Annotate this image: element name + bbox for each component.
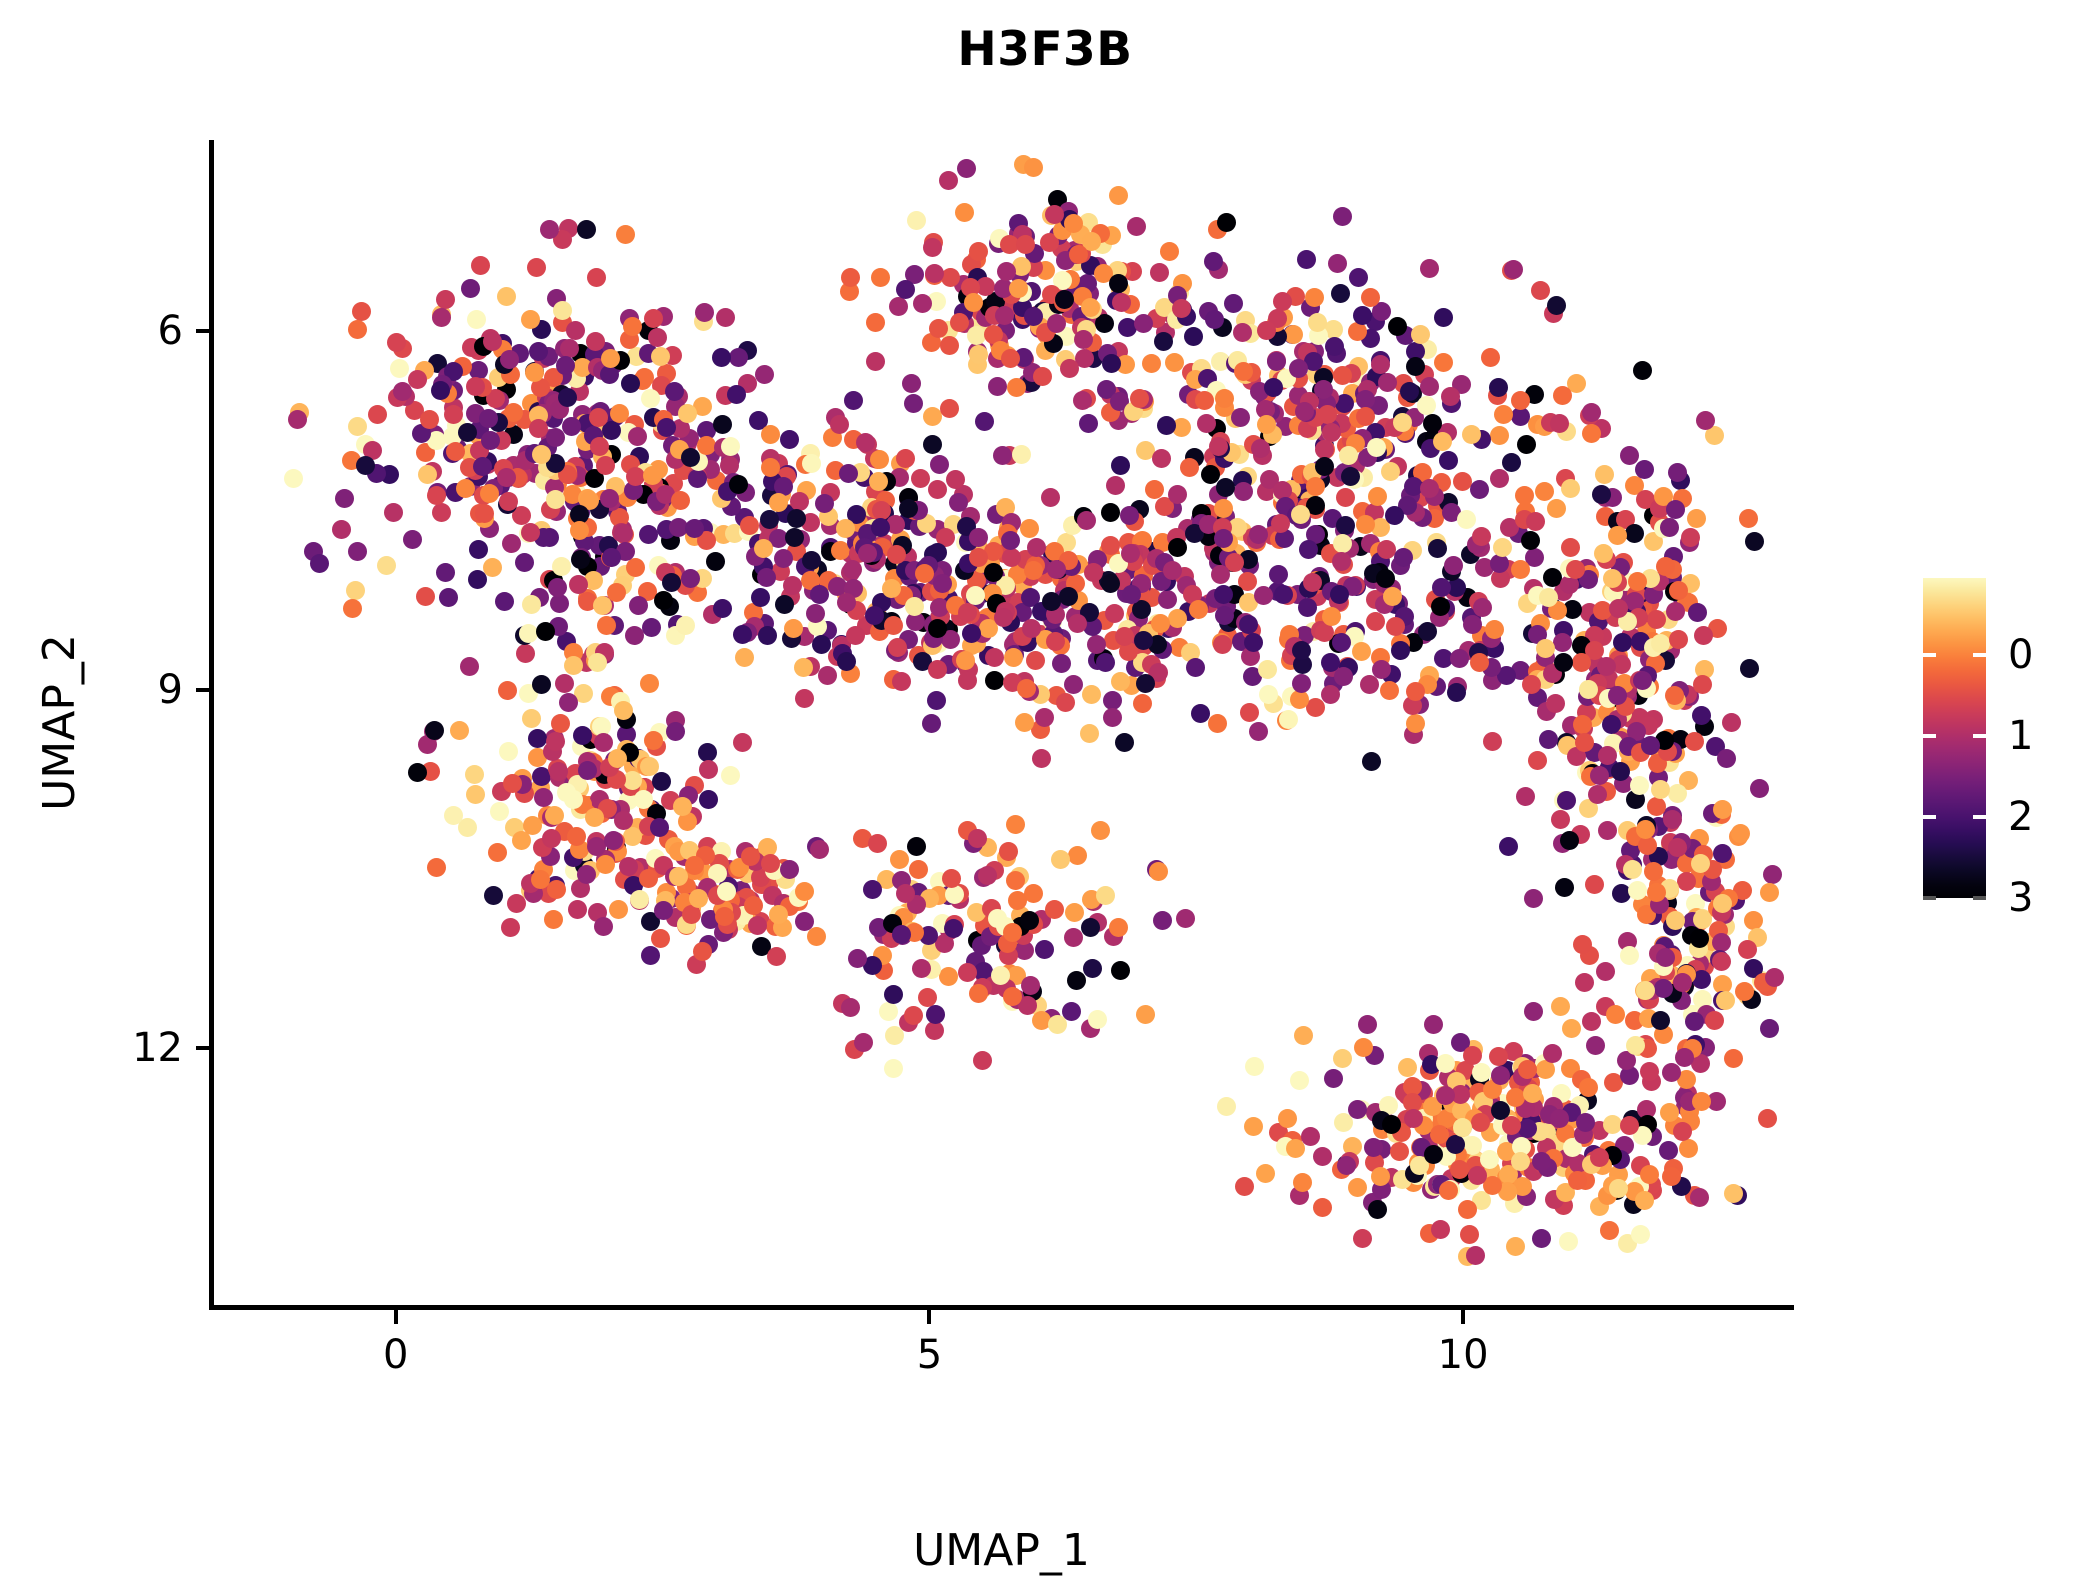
scatter-point [1358,1015,1377,1034]
scatter-point [1364,1138,1383,1157]
scatter-point [795,689,814,708]
scatter-point [1168,538,1187,557]
scatter-point [527,258,546,277]
scatter-point [1669,630,1688,649]
scatter-point [377,556,396,575]
scatter-point [1493,538,1512,557]
scatter-point [1035,708,1054,727]
scatter-point [1258,660,1277,679]
scatter-point [501,918,520,937]
scatter-point [666,722,685,741]
scatter-point [930,455,949,474]
scatter-point [641,946,660,965]
scatter-point [1271,514,1290,533]
scatter-point [1640,1165,1659,1184]
scatter-point [902,374,921,393]
scatter-point [1633,671,1652,690]
scatter-point [1620,946,1639,965]
scatter-point [863,880,882,899]
scatter-point [846,626,865,645]
scatter-point [1244,1117,1263,1136]
scatter-point [1009,279,1028,298]
scatter-point [1647,797,1666,816]
scatter-point [1693,910,1712,929]
scatter-point [1109,186,1128,205]
scatter-point [1378,373,1397,392]
scatter-point [1640,1062,1659,1081]
scatter-point [907,837,926,856]
scatter-point [1136,674,1155,693]
scatter-point [1450,1160,1469,1179]
scatter-point [884,1059,903,1078]
scatter-point [1056,693,1075,712]
scatter-point [1368,1200,1387,1219]
scatter-point [1731,824,1750,843]
scatter-point [1349,268,1368,287]
scatter-point [623,317,642,336]
colorbar-tick-mark [1973,653,1986,657]
scatter-point [641,389,660,408]
scatter-point [1489,1047,1508,1066]
scatter-point [802,551,821,570]
scatter-point [933,574,952,593]
scatter-point [810,840,829,859]
scatter-point [586,332,605,351]
scatter-point [1628,881,1647,900]
scatter-point [569,575,588,594]
scatter-point [1531,281,1550,300]
scatter-point [1566,560,1585,579]
scatter-point [865,606,884,625]
scatter-point [1518,1119,1537,1138]
scatter-point [1361,288,1380,307]
colorbar-tick-mark [1973,734,1986,738]
x-tick-mark [927,1310,931,1324]
scatter-point [841,998,860,1017]
scatter-point [1234,482,1253,501]
scatter-point [1353,306,1372,325]
scatter-point [945,885,964,904]
scatter-point [288,410,307,429]
scatter-point [1303,573,1322,592]
scatter-point [553,301,572,320]
scatter-point [1274,585,1293,604]
scatter-point [1082,685,1101,704]
scatter-point [890,850,909,869]
scatter-point [1020,911,1039,930]
y-tick-label: 9 [158,667,183,713]
scatter-point [1470,653,1489,672]
scatter-point [1561,479,1580,498]
scatter-point [1234,362,1253,381]
scatter-point [1394,548,1413,567]
scatter-point [348,542,367,561]
scatter-point [727,385,746,404]
scatter-point [1158,590,1177,609]
scatter-point [1382,1115,1401,1134]
scatter-point [733,625,752,644]
scatter-point [436,563,455,582]
scatter-point [534,788,553,807]
scatter-point [1450,649,1469,668]
scatter-point [1553,633,1572,652]
scatter-point [1366,612,1385,631]
scatter-point [466,785,485,804]
chart-root: H3F3B 1296 0510 UMAP_1 UMAP_2 3210 [0,0,2100,1500]
scatter-point [892,925,911,944]
scatter-point [858,544,877,563]
scatter-point [969,345,988,364]
colorbar [1923,578,1986,898]
scatter-point [856,433,875,452]
scatter-point [802,454,821,473]
scatter-point [348,320,367,339]
scatter-point [1603,1115,1622,1134]
scatter-point [652,772,671,791]
scatter-point [1293,1173,1312,1192]
scatter-point [1600,1221,1619,1240]
scatter-point [1411,325,1430,344]
scatter-point [699,790,718,809]
scatter-point [969,548,988,567]
scatter-point [871,268,890,287]
scatter-point [1354,1038,1373,1057]
scatter-point [761,458,780,477]
scatter-point [1333,366,1352,385]
scatter-point [1186,658,1205,677]
scatter-point [1760,1019,1779,1038]
scatter-point [555,674,574,693]
scatter-point [1526,512,1545,531]
scatter-point [1536,1060,1555,1079]
scatter-point [1003,923,1022,942]
x-tick-label: 5 [917,1332,942,1378]
scatter-point [1314,380,1333,399]
scatter-point [346,581,365,600]
scatter-point [1521,531,1540,550]
scatter-point [784,619,803,638]
scatter-point [1586,1036,1605,1055]
scatter-point [335,489,354,508]
scatter-point [1127,217,1146,236]
scatter-point [693,942,712,961]
scatter-point [1668,463,1687,482]
scatter-point [922,714,941,733]
scatter-point [1506,1237,1525,1256]
scatter-point [899,499,918,518]
scatter-point [403,530,422,549]
scatter-point [928,619,947,638]
scatter-point [913,294,932,313]
scatter-point [1301,1127,1320,1146]
scatter-point [1047,560,1066,579]
scatter-point [1654,979,1673,998]
scatter-point [712,348,731,367]
scatter-point [540,220,559,239]
scatter-point [969,984,988,1003]
scatter-point [841,268,860,287]
scatter-point [1582,424,1601,443]
scatter-point [1585,875,1604,894]
scatter-point [1213,635,1232,654]
scatter-point [1659,1141,1678,1160]
scatter-point [1423,414,1442,433]
scatter-point [532,445,551,464]
scatter-point [1636,820,1655,839]
scatter-point [1760,883,1779,902]
scatter-point [1306,477,1325,496]
scatter-point [516,644,535,663]
scatter-point [1694,626,1713,645]
scatter-point [1693,675,1712,694]
scatter-point [1626,1036,1645,1055]
scatter-point [588,653,607,672]
scatter-point [1184,327,1203,346]
scatter-point [1348,1178,1367,1197]
scatter-point [915,564,934,583]
scatter-point [596,456,615,475]
scatter-point [1524,889,1543,908]
scatter-point [1006,871,1025,890]
scatter-point [780,860,799,879]
scatter-point [665,382,684,401]
scatter-point [1306,698,1325,717]
scatter-point [461,279,480,298]
scatter-point [1523,1084,1542,1103]
scatter-point [757,568,776,587]
scatter-point [1744,911,1763,930]
scatter-point [940,399,959,418]
scatter-point [1109,918,1128,937]
scatter-point [783,576,802,595]
scatter-point [1528,751,1547,770]
y-tick-label: 12 [132,1025,183,1071]
scatter-point [1598,746,1617,765]
scatter-point [1336,516,1355,535]
scatter-point [1367,438,1386,457]
scatter-point [469,540,488,559]
scatter-point [1091,821,1110,840]
scatter-point [1532,1229,1551,1248]
scatter-point [1490,426,1509,445]
scatter-point [1079,414,1098,433]
scatter-point [871,518,890,537]
scatter-point [1596,962,1615,981]
scatter-point [1735,982,1754,1001]
scatter-point [1046,632,1065,651]
scatter-point [356,456,375,475]
scatter-point [1685,732,1704,751]
scatter-point [587,268,606,287]
scatter-point [795,882,814,901]
scatter-point [955,203,974,222]
scatter-point [892,672,911,691]
scatter-point [1064,675,1083,694]
scatter-point [1635,1191,1654,1210]
scatter-point [967,326,986,345]
scatter-point [775,595,794,614]
scatter-point [596,855,615,874]
scatter-point [1376,569,1395,588]
scatter-point [1024,158,1043,177]
scatter-point [1473,598,1492,617]
scatter-point [1485,620,1504,639]
scatter-point [923,238,942,257]
scatter-point [570,521,589,540]
scatter-point [1439,451,1458,470]
scatter-point [729,475,748,494]
scatter-point [1597,657,1616,676]
scatter-point [1041,488,1060,507]
scatter-point [1431,1220,1450,1239]
scatter-point [1433,432,1452,451]
scatter-point [741,847,760,866]
scatter-point [1656,948,1675,967]
scatter-point [1536,639,1555,658]
scatter-point [1439,1181,1458,1200]
scatter-point [1103,708,1122,727]
plot-title-text: H3F3B [957,22,1132,77]
scatter-point [1539,588,1558,607]
scatter-point [866,352,885,371]
scatter-point [471,256,490,275]
scatter-point [1291,505,1310,524]
scatter-point [807,927,826,946]
scatter-point [578,761,597,780]
scatter-point [1341,467,1360,486]
scatter-point [1677,872,1696,891]
scatter-point [1105,604,1124,623]
scatter-point [1045,205,1064,224]
scatter-point [1380,681,1399,700]
scatter-point [1145,480,1164,499]
scatter-point [1420,259,1439,278]
scatter-point [1656,557,1675,576]
scatter-point [1336,488,1355,507]
scatter-point [460,657,479,676]
scatter-point [1299,540,1318,559]
scatter-point [639,869,658,888]
scatter-point [1334,667,1353,686]
scatter-point [1494,405,1513,424]
scatter-point [1458,1200,1477,1219]
scatter-point [839,464,858,483]
scatter-point [425,721,444,740]
scatter-point [559,693,578,712]
scatter-point [577,865,596,884]
scatter-point [1332,633,1351,652]
scatter-point [1460,1225,1479,1244]
scatter-point [640,757,659,776]
scatter-point [515,553,534,572]
scatter-point [352,302,371,321]
scatter-point [1666,911,1685,930]
scatter-point [1002,548,1021,567]
scatter-point [1240,703,1259,722]
scatter-point [869,472,888,491]
scatter-point [1112,293,1131,312]
scatter-point [1331,284,1350,303]
x-axis-label: UMAP_1 [209,1525,1794,1576]
scatter-point [882,579,901,598]
scatter-point [1690,1188,1709,1207]
scatter-point [1015,713,1034,732]
scatter-point [769,493,788,512]
scatter-point [1424,1015,1443,1034]
scatter-point [1470,480,1489,499]
scatter-point [1007,378,1026,397]
scatter-point [1290,1071,1309,1090]
scatter-point [1215,389,1234,408]
scatter-point [594,733,613,752]
scatter-point [1176,909,1195,928]
x-tick-label: 10 [1438,1332,1489,1378]
scatter-point [939,967,958,986]
scatter-point [1758,1109,1777,1128]
scatter-point [1142,354,1161,373]
scatter-point [909,860,928,879]
scatter-point [1576,1113,1595,1132]
colorbar-gradient [1923,578,1986,898]
scatter-point [1111,961,1130,980]
scatter-point [1195,391,1214,410]
scatter-point [498,681,517,700]
scatter-point [1032,749,1051,768]
scatter-point [408,763,427,782]
scatter-point [1150,263,1169,282]
scatter-point [1180,458,1199,477]
scatter-point [678,404,697,423]
scatter-point [1404,1109,1423,1128]
scatter-point [1447,683,1466,702]
colorbar-tick-mark [1923,734,1936,738]
scatter-point [671,491,690,510]
scatter-point [654,901,673,920]
scatter-point [1441,387,1460,406]
scatter-point [1136,1005,1155,1024]
scatter-point [427,486,446,505]
scatter-point [393,382,412,401]
scatter-point [1297,250,1316,269]
scatter-point [1420,479,1439,498]
scatter-point [713,599,732,618]
scatter-point [1613,633,1632,652]
scatter-point [1522,675,1541,694]
scatter-point [558,388,577,407]
scatter-point [625,626,644,645]
scatter-point [1328,254,1347,273]
scatter-point [458,423,477,442]
scatter-point [310,554,329,573]
colorbar-tick-mark [1923,653,1936,657]
scatter-point [818,666,837,685]
scatter-point [1547,499,1566,518]
scatter-point [1724,1049,1743,1068]
scatter-point [1499,837,1518,856]
scatter-point [490,802,509,821]
scatter-point [1620,1116,1639,1135]
scatter-point [1745,532,1764,551]
scatter-point [1631,1225,1650,1244]
scatter-point [1239,615,1258,634]
scatter-point [1660,1103,1679,1122]
scatter-point [884,985,903,1004]
scatter-point [695,303,714,322]
scatter-point [729,348,748,367]
scatter-point [566,321,585,340]
scatter-point [1633,361,1652,380]
scatter-point [626,467,645,486]
